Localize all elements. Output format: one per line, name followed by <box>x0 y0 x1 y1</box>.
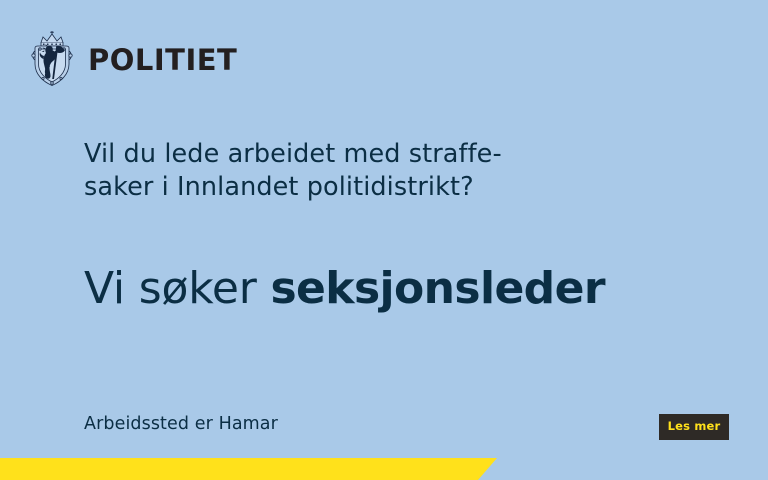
subheadline-line-1: Vil du lede arbeidet med straffe- <box>84 139 502 169</box>
headline-emphasis: seksjonsleder <box>270 263 604 314</box>
norwegian-coat-of-arms-icon <box>28 31 76 87</box>
workplace-location: Arbeidssted er Hamar <box>84 413 278 435</box>
brand-lockup: POLITIET <box>28 31 237 87</box>
politiet-wordmark: POLITIET <box>88 46 237 75</box>
recruitment-poster: POLITIET Vil du lede arbeidet med straff… <box>0 0 768 480</box>
headline-lead: Vi søker <box>84 263 270 314</box>
yellow-accent-band <box>0 458 500 480</box>
read-more-button[interactable]: Les mer <box>659 414 729 440</box>
subheadline-line-2: saker i Innlandet politidistrikt? <box>84 171 644 204</box>
headline: Vi søker seksjonsleder <box>84 263 605 315</box>
subheadline: Vil du lede arbeidet med straffe- saker … <box>84 138 644 204</box>
read-more-button-label: Les mer <box>668 421 721 433</box>
